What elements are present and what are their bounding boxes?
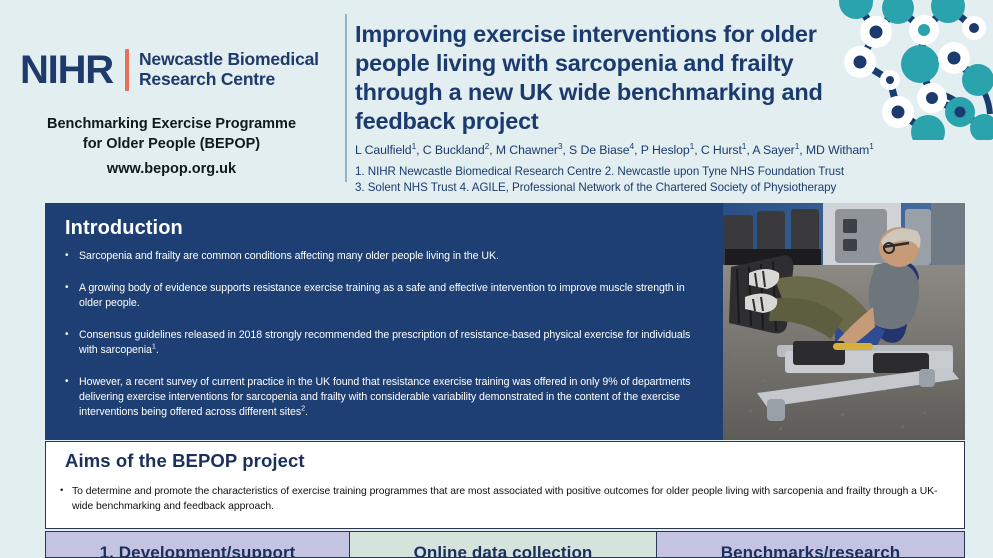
introduction-panel: Introduction Sarcopenia and frailty are … xyxy=(45,203,965,440)
author-list: L Caulfield1, C Buckland2, M Chawner3, S… xyxy=(355,143,965,159)
affiliation-line-2: 3. Solent NHS Trust 4. AGILE, Profession… xyxy=(355,180,965,196)
programme-tagline-line1: Benchmarking Exercise Programme xyxy=(47,116,296,132)
aims-bullet-list: To determine and promote the characteris… xyxy=(58,484,954,514)
programme-tagline: Benchmarking Exercise Programme for Olde… xyxy=(0,115,343,154)
list-item: Sarcopenia and frailty are common condit… xyxy=(65,249,710,264)
workstream-column-1-heading: 1. Development/support xyxy=(46,543,349,558)
aims-heading: Aims of the BEPOP project xyxy=(65,450,305,472)
programme-tagline-line2: for Older People (BEPOP) xyxy=(83,136,260,152)
aims-panel: Aims of the BEPOP project To determine a… xyxy=(45,441,965,529)
workstream-column-1[interactable]: 1. Development/support xyxy=(45,531,349,558)
branding-block: NIHR Newcastle Biomedical Research Centr… xyxy=(0,0,343,196)
workstream-column-3-heading: Benchmarks/research xyxy=(657,543,964,558)
workstream-column-2-heading: Online data collection xyxy=(350,543,656,558)
leg-press-exercise-photo xyxy=(723,203,965,440)
header-vertical-divider xyxy=(345,14,347,182)
nihr-centre-line1: Newcastle Biomedical xyxy=(139,49,319,69)
affiliation-line-1: 1. NIHR Newcastle Biomedical Research Ce… xyxy=(355,164,965,180)
nihr-centre-line2: Research Centre xyxy=(139,69,275,89)
introduction-heading: Introduction xyxy=(65,217,183,240)
introduction-bullet-list: Sarcopenia and frailty are common condit… xyxy=(65,249,710,437)
nihr-logo: NIHR Newcastle Biomedical Research Centr… xyxy=(20,44,319,96)
nihr-centre-name: Newcastle Biomedical Research Centre xyxy=(139,50,319,90)
title-block: Improving exercise interventions for old… xyxy=(355,20,965,196)
project-website-url[interactable]: www.bepop.org.uk xyxy=(0,161,343,177)
logo-divider-rule xyxy=(125,49,129,91)
list-item: Consensus guidelines released in 2018 st… xyxy=(65,328,710,358)
poster-header: NIHR Newcastle Biomedical Research Centr… xyxy=(0,0,993,196)
nihr-wordmark: NIHR xyxy=(20,50,113,90)
list-item: To determine and promote the characteris… xyxy=(58,484,954,514)
list-item: A growing body of evidence supports resi… xyxy=(65,281,710,311)
poster-canvas: NIHR Newcastle Biomedical Research Centr… xyxy=(0,0,993,558)
workstream-columns: 1. Development/support Online data colle… xyxy=(45,531,965,558)
list-item: However, a recent survey of current prac… xyxy=(65,375,710,420)
page-title: Improving exercise interventions for old… xyxy=(355,20,885,136)
workstream-column-2[interactable]: Online data collection xyxy=(349,531,656,558)
workstream-column-3[interactable]: Benchmarks/research xyxy=(656,531,965,558)
affiliation-list: 1. NIHR Newcastle Biomedical Research Ce… xyxy=(355,164,965,196)
